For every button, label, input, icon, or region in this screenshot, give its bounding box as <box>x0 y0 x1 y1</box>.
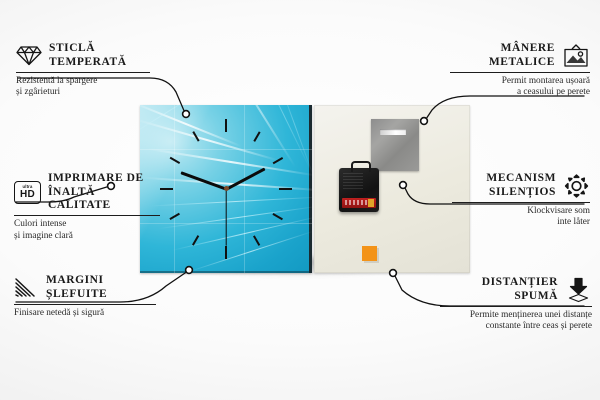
feature-subtitle: Finisare netedă și sigură <box>14 308 156 319</box>
feature-tempered-glass: STICLĂ TEMPERATĂ Rezistentă la spargere … <box>16 42 150 99</box>
connector-dot-silent-mechanism <box>400 182 407 189</box>
feature-subtitle: Klockvisare som inte låter <box>452 206 590 229</box>
divider <box>440 306 592 307</box>
feature-title: MECANISM SILENȚIOS <box>486 172 556 199</box>
connector-dot-metal-handles <box>421 118 428 125</box>
gear-icon <box>563 173 590 199</box>
feature-silent-mechanism: MECANISM SILENȚIOS Klockvisare som inte … <box>452 172 590 229</box>
feature-subtitle: Rezistentă la spargere și zgârieturi <box>16 76 150 99</box>
down-arrow-pad-icon <box>565 277 592 303</box>
connector-dot-tempered-glass <box>183 111 190 118</box>
diamond-icon <box>16 45 42 66</box>
divider <box>14 215 160 216</box>
connector-dot-foam-spacer <box>390 270 397 277</box>
picture-hanger-icon <box>562 44 590 68</box>
feature-title: MÂNERE METALICE <box>489 42 555 69</box>
polished-edges-icon <box>14 277 39 298</box>
connector-dot-polished-edges <box>186 267 193 274</box>
feature-metal-handles: MÂNERE METALICE Permit montarea ușoară a… <box>450 42 590 99</box>
feature-subtitle: Permit montarea ușoară a ceasului pe per… <box>450 76 590 99</box>
divider <box>16 72 150 73</box>
infographic-canvas: STICLĂ TEMPERATĂ Rezistentă la spargere … <box>0 0 600 400</box>
feature-title: STICLĂ TEMPERATĂ <box>49 42 127 69</box>
divider <box>450 72 590 73</box>
feature-foam-spacer: DISTANȚIER SPUMĂ Permite menținerea unei… <box>440 276 592 333</box>
connector-metal-handles <box>424 96 584 122</box>
divider <box>452 202 590 203</box>
feature-hd-print: ultra HD IMPRIMARE DE ÎNALTĂ CALITATE Cu… <box>14 172 160 242</box>
feature-subtitle: Permite menținerea unei distanțe constan… <box>440 310 592 333</box>
feature-title: MARGINI ȘLEFUITE <box>46 274 107 301</box>
divider <box>14 304 156 305</box>
feature-polished-edges: MARGINI ȘLEFUITE Finisare netedă și sigu… <box>14 274 156 319</box>
feature-subtitle: Culori intense și imagine clară <box>14 219 160 242</box>
feature-title: IMPRIMARE DE ÎNALTĂ CALITATE <box>48 172 160 213</box>
feature-title: DISTANȚIER SPUMĂ <box>482 276 558 303</box>
badge-hd-label: HD <box>20 190 35 200</box>
ultra-hd-badge-icon: ultra HD <box>14 181 41 204</box>
